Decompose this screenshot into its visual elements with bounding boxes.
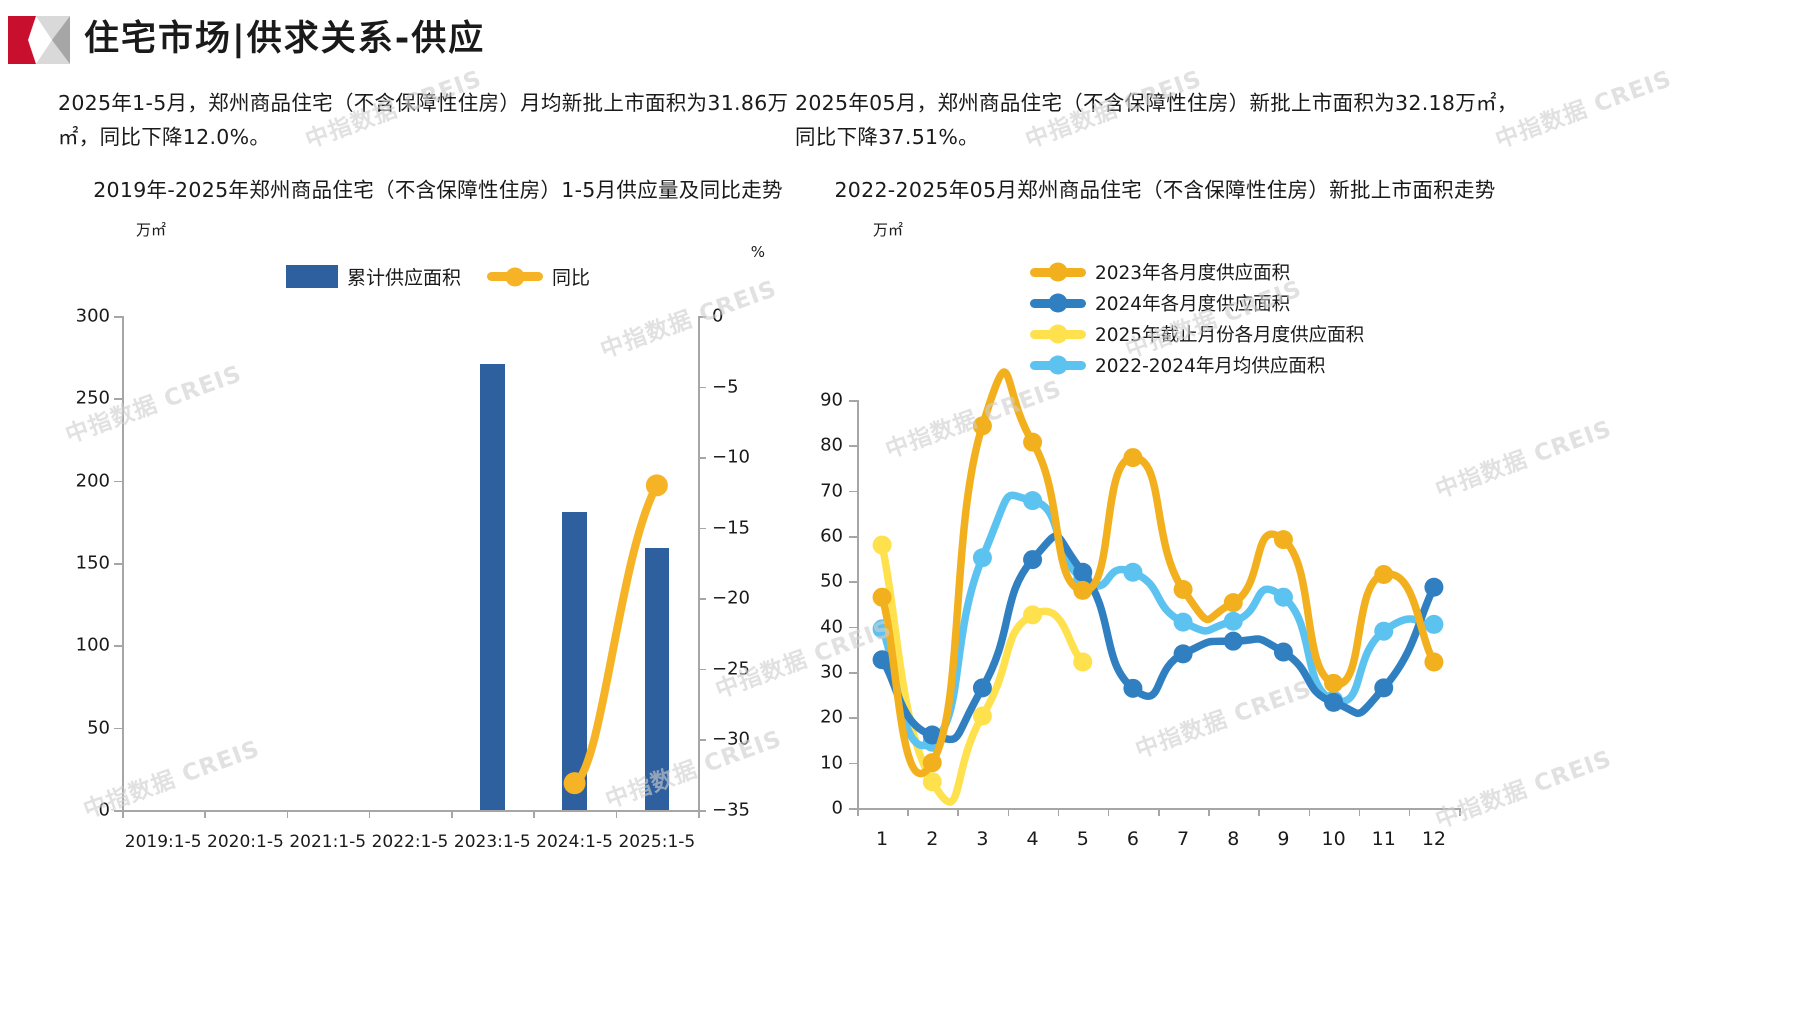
- legend-swatch-line-icon: [1030, 361, 1086, 370]
- series-point-3: [1123, 563, 1142, 582]
- legend-item-2025[interactable]: 2025年截止月份各月度供应面积: [1030, 321, 1364, 347]
- series-point-0: [1324, 674, 1343, 693]
- right-summary-text: 2025年05月，郑州商品住宅（不含保障性住房）新批上市面积为32.18万㎡，同…: [795, 86, 1535, 154]
- right-chart-plot: 0102030405060708090123456789101112: [795, 392, 1535, 862]
- legend-swatch-line-icon: [1030, 330, 1086, 339]
- series-point-1: [1374, 678, 1393, 697]
- series-point-0: [1424, 653, 1443, 672]
- series-point-1: [1174, 644, 1193, 663]
- legend-label: 2024年各月度供应面积: [1095, 290, 1290, 316]
- series-point-3: [1023, 491, 1042, 510]
- series-point-3: [1174, 613, 1193, 632]
- series-point-3: [1224, 612, 1243, 631]
- legend-label: 2025年截止月份各月度供应面积: [1095, 321, 1364, 347]
- right-chart-line-layer: [795, 392, 1475, 862]
- left-panel: 2025年1-5月，郑州商品住宅（不含保障性住房）月均新批上市面积为31.86万…: [58, 86, 818, 866]
- series-point-1: [1224, 632, 1243, 651]
- legend-label: 2022-2024年月均供应面积: [1095, 352, 1325, 378]
- right-chart-unit-left: 万㎡: [873, 219, 1535, 240]
- series-point-0: [1374, 565, 1393, 584]
- right-chart-legend: 2023年各月度供应面积 2024年各月度供应面积 2025年截止月份各月度供应…: [795, 259, 1535, 378]
- left-chart-unit-left: 万㎡: [136, 219, 818, 240]
- legend-swatch-line-icon: [1030, 299, 1086, 308]
- legend-item-2023[interactable]: 2023年各月度供应面积: [1030, 259, 1290, 285]
- series-point-1: [1324, 693, 1343, 712]
- series-point-0: [873, 588, 892, 607]
- legend-item-cumulative-supply[interactable]: 累计供应面积: [286, 263, 461, 290]
- legend-label: 2023年各月度供应面积: [1095, 259, 1290, 285]
- legend-swatch-line-icon: [1030, 268, 1086, 277]
- series-point-1: [1424, 578, 1443, 597]
- left-chart-line-layer: [58, 306, 758, 866]
- series-point-1: [973, 678, 992, 697]
- page-header: 住宅市场|供求关系-供应: [0, 0, 1797, 78]
- series-point-0: [1123, 448, 1142, 467]
- legend-label: 累计供应面积: [347, 263, 461, 290]
- left-chart-plot: 0501001502002503000−5−10−15−20−25−30−352…: [58, 306, 818, 866]
- series-point-3: [1274, 588, 1293, 607]
- series-point-0: [1023, 433, 1042, 452]
- yoy-line: [575, 485, 657, 783]
- left-chart-title: 2019年-2025年郑州商品住宅（不含保障性住房）1-5月供应量及同比走势: [58, 174, 818, 207]
- series-point-3: [1424, 615, 1443, 634]
- series-point-0: [1224, 593, 1243, 612]
- legend-item-yoy[interactable]: 同比: [487, 263, 590, 290]
- page-title: 住宅市场|供求关系-供应: [84, 10, 485, 61]
- legend-item-2024[interactable]: 2024年各月度供应面积: [1030, 290, 1290, 316]
- legend-swatch-line-icon: [487, 272, 543, 281]
- series-point-0: [973, 416, 992, 435]
- series-point-0: [923, 753, 942, 772]
- series-point-1: [1274, 643, 1293, 662]
- series-point-0: [1174, 580, 1193, 599]
- series-point-3: [1374, 622, 1393, 641]
- legend-item-avg[interactable]: 2022-2024年月均供应面积: [1030, 352, 1325, 378]
- yoy-point: [564, 772, 586, 794]
- brand-logo-icon: [8, 16, 70, 64]
- series-point-0: [1073, 581, 1092, 600]
- left-chart-legend: 累计供应面积 同比: [58, 263, 818, 290]
- series-point-0: [1274, 530, 1293, 549]
- series-point-2: [1073, 653, 1092, 672]
- legend-label: 同比: [552, 263, 590, 290]
- series-point-1: [1073, 563, 1092, 582]
- legend-swatch-bar-icon: [286, 265, 338, 288]
- series-point-3: [973, 548, 992, 567]
- series-point-2: [1023, 605, 1042, 624]
- right-panel: 2025年05月，郑州商品住宅（不含保障性住房）新批上市面积为32.18万㎡，同…: [795, 86, 1535, 862]
- series-point-2: [973, 706, 992, 725]
- series-point-2: [873, 536, 892, 555]
- series-point-1: [1123, 679, 1142, 698]
- yoy-point: [646, 474, 668, 496]
- left-summary-text: 2025年1-5月，郑州商品住宅（不含保障性住房）月均新批上市面积为31.86万…: [58, 86, 818, 154]
- right-chart-title: 2022-2025年05月郑州商品住宅（不含保障性住房）新批上市面积走势: [795, 174, 1535, 207]
- left-chart-unit-right: %: [751, 243, 765, 261]
- series-point-1: [1023, 550, 1042, 569]
